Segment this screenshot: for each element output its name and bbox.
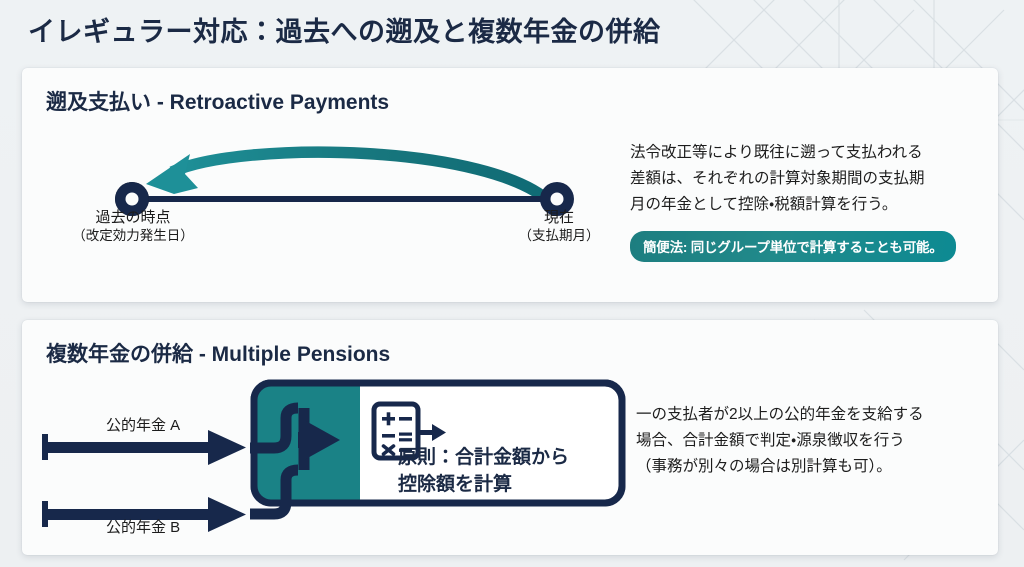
calculation-rule-line-1: 原則：合計金額から [398, 445, 569, 472]
calculation-rule-text: 原則：合計金額から 控除額を計算 [398, 445, 569, 499]
timeline-label-present: 現在 （支払期月） [484, 208, 634, 244]
timeline-label-past: 過去の時点 （改定効力発生日） [58, 208, 208, 244]
flow-arrow-pension-a [42, 430, 246, 465]
flow-label-pension-a: 公的年金 A [106, 414, 180, 435]
retroactive-note-block: 法令改正等により既往に遡って支払われる 差額は、それぞれの計算対象期間の支払期 … [630, 140, 996, 262]
page-title: イレギュラー対応：過去への遡及と複数年金の併給 [28, 10, 661, 49]
card-multiple-pensions: 複数年金の併給 - Multiple Pensions [22, 320, 998, 555]
retroactive-timeline: 過去の時点 （改定効力発生日） 現在 （支払期月） [22, 126, 622, 301]
timeline-label-present-sub: （支払期月） [484, 227, 634, 244]
multiple-note-line-3: （事務が別々の場合は別計算も可）。 [636, 454, 1006, 480]
calculation-rule-line-2: 控除額を計算 [398, 472, 569, 499]
multiple-pensions-flow: 公的年金 A 公的年金 B 原則：合計金額から 控除額を計算 [22, 370, 642, 550]
card-title-multiple-pensions: 複数年金の併給 - Multiple Pensions [46, 338, 390, 368]
retroactive-note-line-3: 月の年金として控除・税額計算を行う。 [630, 192, 996, 218]
timeline-label-past-sub: （改定効力発生日） [58, 227, 208, 244]
timeline-label-present-main: 現在 [484, 208, 634, 227]
flow-label-pension-b: 公的年金 B [106, 516, 180, 537]
card-title-retroactive: 遡及支払い - Retroactive Payments [46, 86, 389, 116]
retroactive-note-line-1: 法令改正等により既往に遡って支払われる [630, 140, 996, 166]
multiple-pensions-note-block: 一の支払者が2以上の公的年金を支給する 場合、合計金額で判定・源泉徴収を行う （… [636, 402, 1006, 480]
retroactive-note-line-2: 差額は、それぞれの計算対象期間の支払期 [630, 166, 996, 192]
simplified-method-badge: 簡便法: 同じグループ単位で計算することも可能。 [630, 231, 956, 262]
multiple-note-line-1: 一の支払者が2以上の公的年金を支給する [636, 402, 1006, 428]
card-retroactive-payments: 遡及支払い - Retroactive Payments [22, 68, 998, 302]
multiple-note-line-2: 場合、合計金額で判定・源泉徴収を行う [636, 428, 1006, 454]
timeline-label-past-main: 過去の時点 [58, 208, 208, 227]
